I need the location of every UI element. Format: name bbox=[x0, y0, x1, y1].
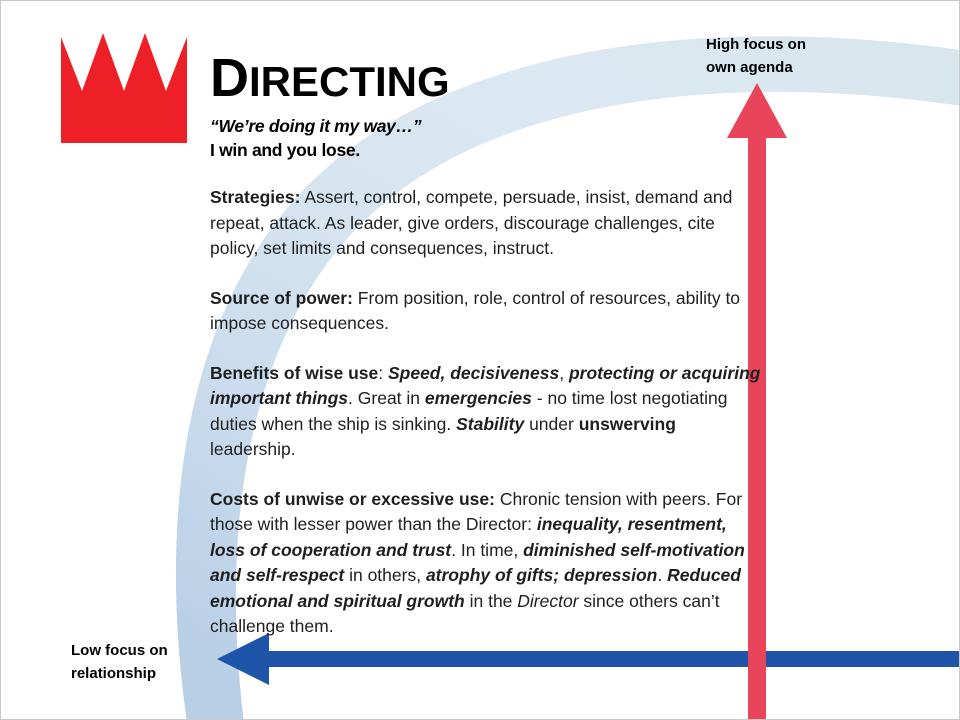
axis-label-vertical: High focus on own agenda bbox=[706, 33, 806, 79]
paragraph-strategies: Strategies: Assert, control, compete, pe… bbox=[210, 185, 762, 262]
axis-label-vertical-line2: own agenda bbox=[706, 56, 806, 79]
axis-label-horizontal: Low focus on relationship bbox=[71, 639, 168, 685]
title-initial: D bbox=[210, 48, 249, 108]
text-run: leadership. bbox=[210, 439, 296, 459]
text-run: Strategies: bbox=[210, 187, 300, 207]
body-content: Strategies: Assert, control, compete, pe… bbox=[210, 185, 762, 640]
page-title: DIRECTING bbox=[210, 51, 450, 105]
paragraph-costs-of-unwise-use: Costs of unwise or excessive use: Chroni… bbox=[210, 487, 762, 640]
slide-canvas: DIRECTING “We’re doing it my way…” I win… bbox=[0, 0, 960, 720]
quote-text: “We’re doing it my way…” bbox=[210, 116, 450, 137]
slide-header: DIRECTING “We’re doing it my way…” I win… bbox=[210, 51, 450, 161]
crown-icon bbox=[61, 31, 187, 143]
text-run: Stability bbox=[456, 414, 524, 434]
text-run: . Great in bbox=[348, 388, 425, 408]
text-run: under bbox=[524, 414, 578, 434]
title-rest: IRECTING bbox=[249, 58, 450, 105]
paragraph-benefits-of-wise-use: Benefits of wise use: Speed, decisivenes… bbox=[210, 361, 762, 463]
text-run: Source of power: bbox=[210, 288, 353, 308]
text-run: , bbox=[559, 363, 569, 383]
text-run: . In time, bbox=[451, 540, 523, 560]
text-run: in the bbox=[465, 591, 518, 611]
text-run: Director bbox=[517, 591, 578, 611]
left-arrow-icon bbox=[217, 633, 960, 685]
text-run: Benefits of wise use bbox=[210, 363, 378, 383]
text-run: Costs of unwise or excessive use: bbox=[210, 489, 495, 509]
paragraph-source-of-power: Source of power: From position, role, co… bbox=[210, 286, 762, 337]
text-run: in others, bbox=[344, 565, 426, 585]
axis-label-vertical-line1: High focus on bbox=[706, 33, 806, 56]
axis-label-horizontal-line2: relationship bbox=[71, 662, 168, 685]
text-run: . bbox=[657, 565, 667, 585]
text-run: : bbox=[378, 363, 388, 383]
text-run: Speed, decisiveness bbox=[388, 363, 559, 383]
text-run: emergencies bbox=[425, 388, 532, 408]
text-run: unswerving bbox=[579, 414, 676, 434]
subtitle-text: I win and you lose. bbox=[210, 140, 450, 161]
text-run: atrophy of gifts; depression bbox=[426, 565, 657, 585]
axis-label-horizontal-line1: Low focus on bbox=[71, 639, 168, 662]
